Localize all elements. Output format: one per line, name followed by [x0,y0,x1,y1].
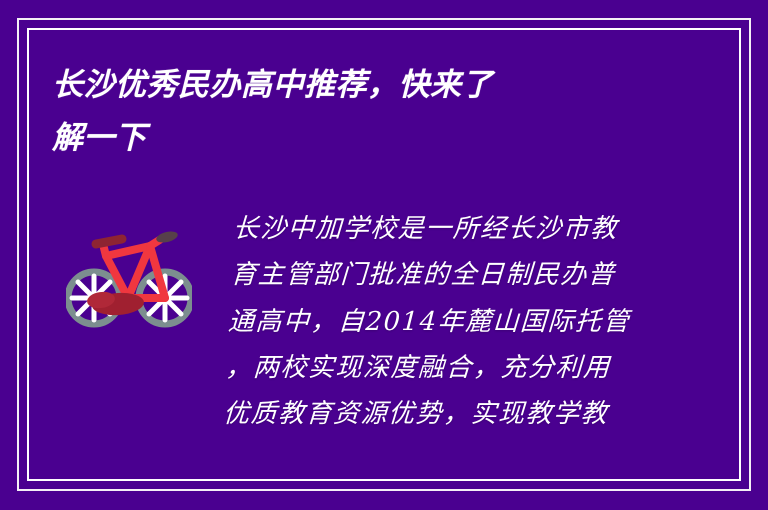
body-paragraph: 长沙中加学校是一所经长沙市教 育主管部门批准的全日制民办普 通高中，自2014年… [222,206,664,437]
bicycle-icon [66,222,192,338]
poster-canvas: 长沙优秀民办高中推荐，快来了 解一下 [0,0,768,510]
page-title: 长沙优秀民办高中推荐，快来了 解一下 [52,58,652,165]
